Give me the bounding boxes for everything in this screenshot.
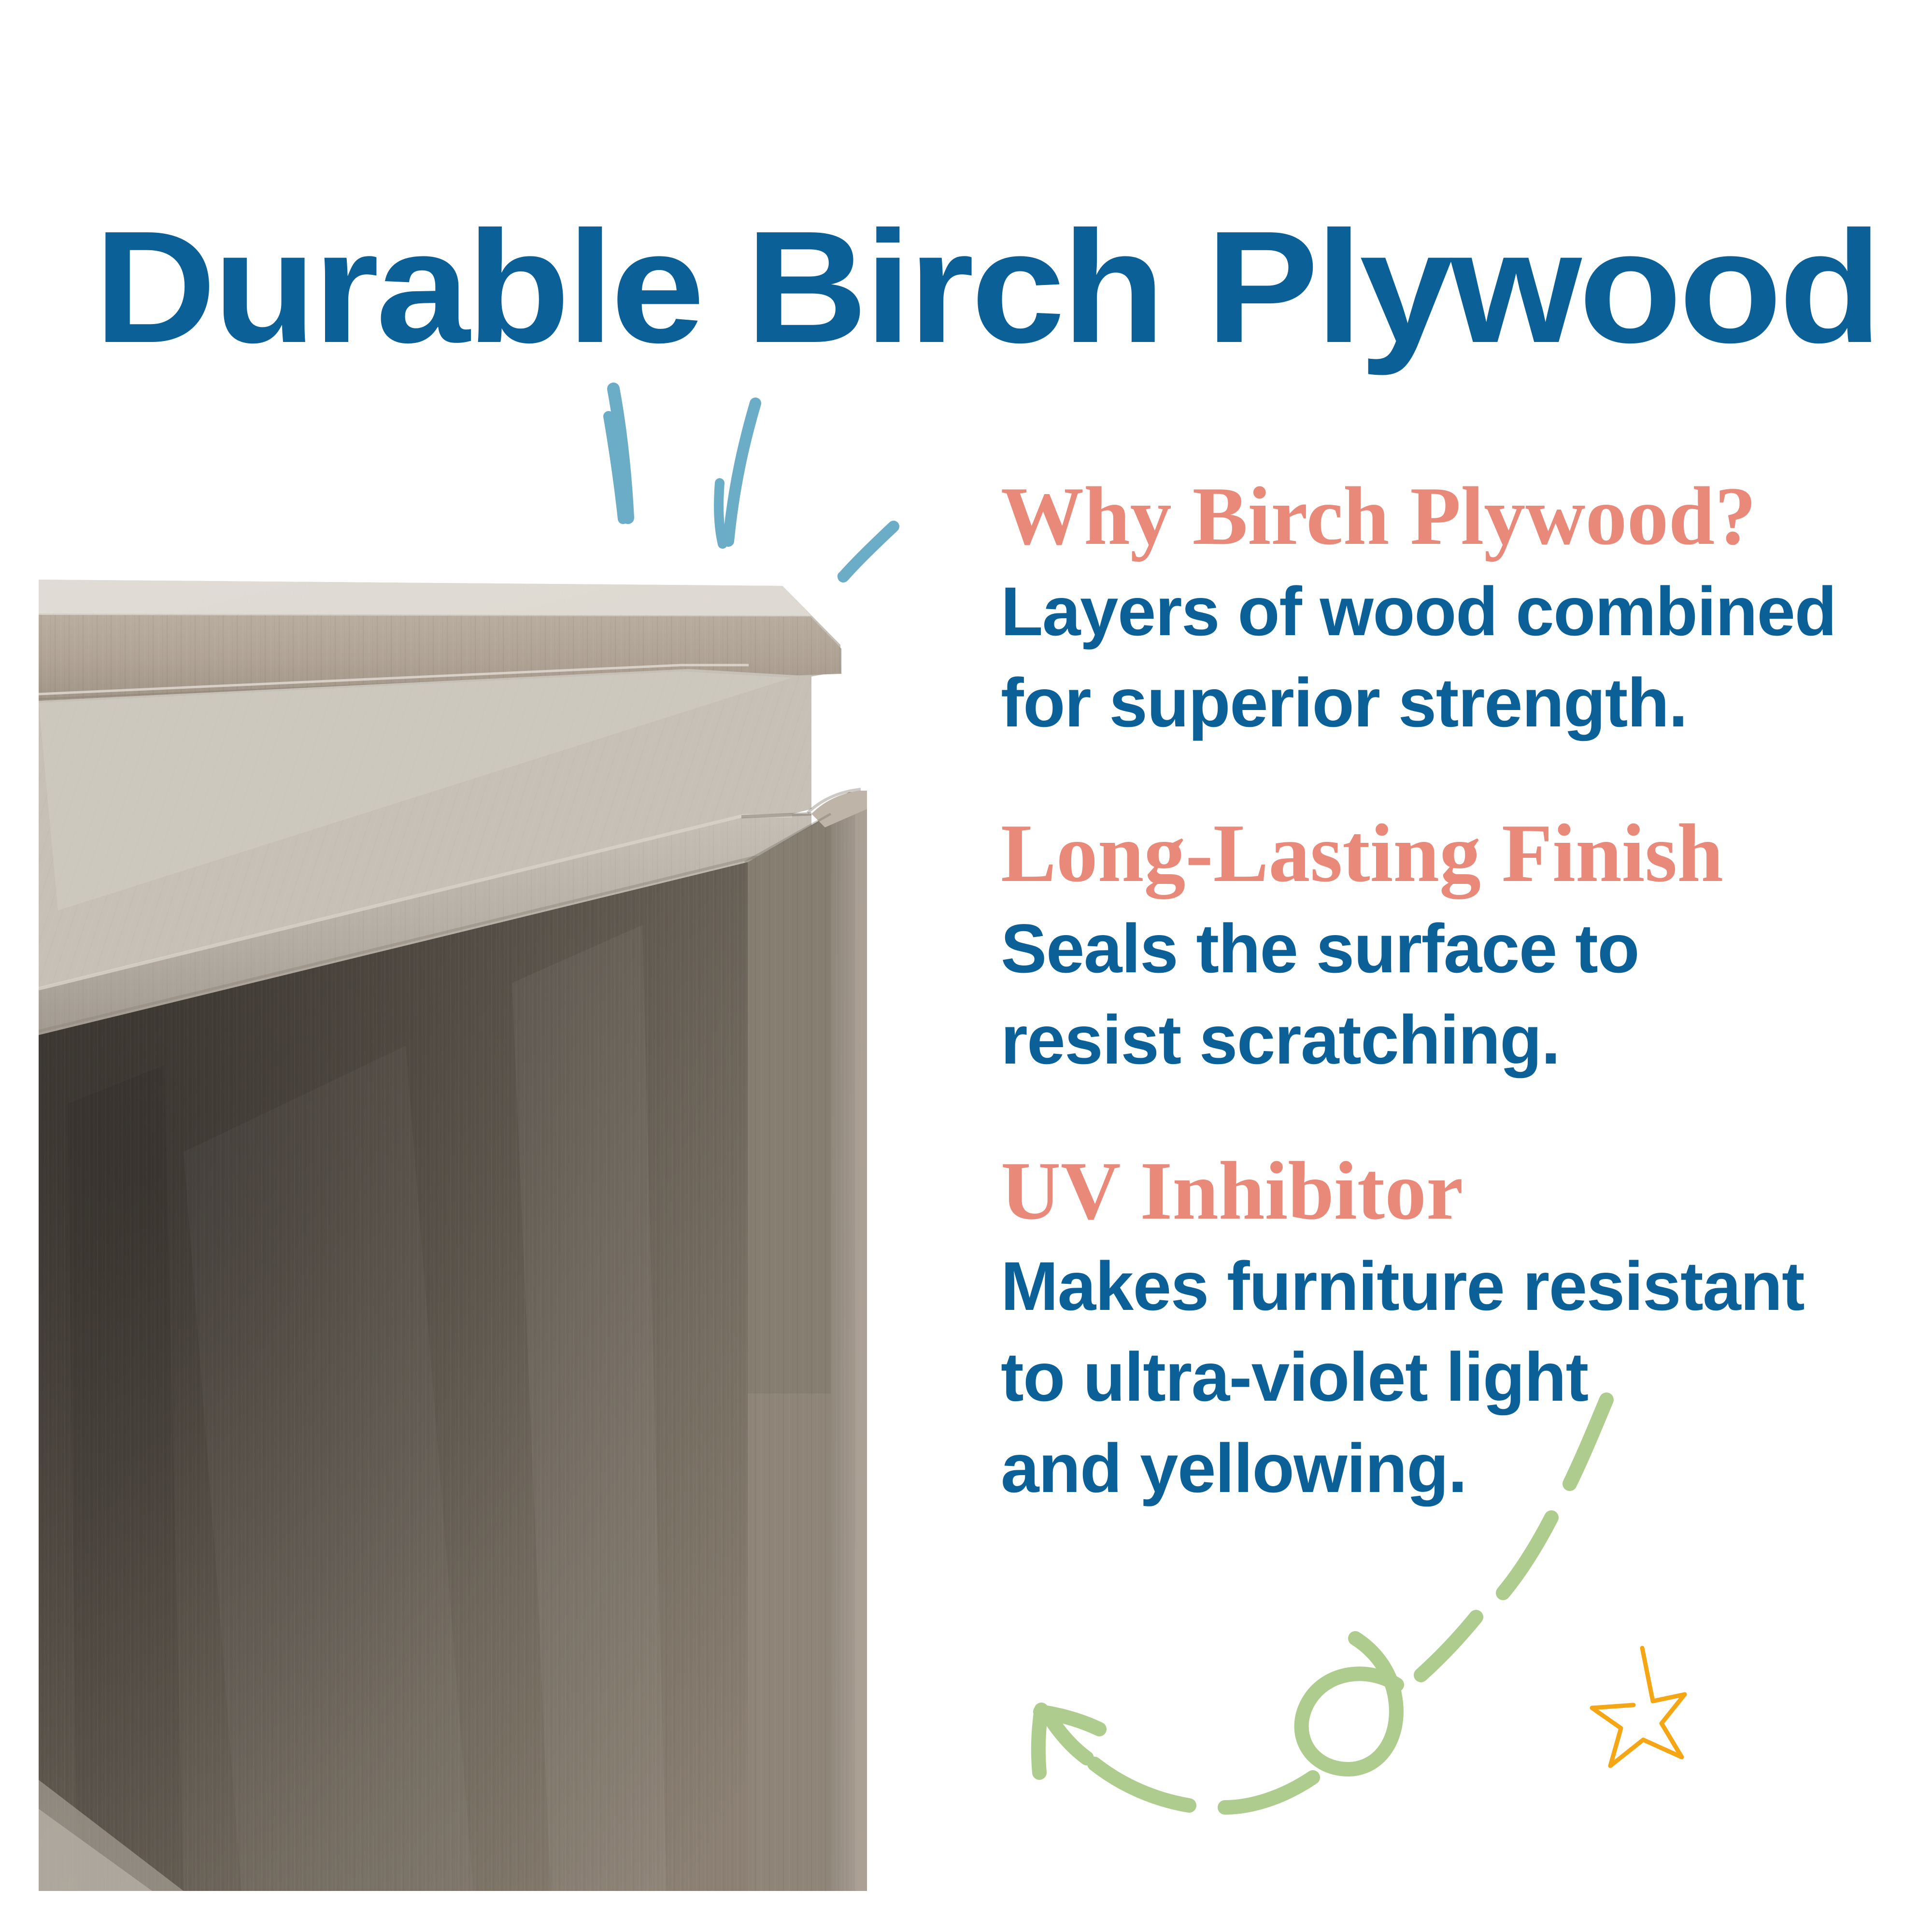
feature-heading: Long-Lasting Finish bbox=[1001, 810, 1870, 897]
feature-heading: Why Birch Plywood? bbox=[1001, 473, 1870, 560]
feature-block-why-birch-plywood: Why Birch Plywood? Layers of wood combin… bbox=[1001, 473, 1870, 749]
feature-body-line: to ultra-violet light bbox=[1001, 1332, 1870, 1423]
feature-body-line: and yellowing. bbox=[1001, 1423, 1870, 1515]
feature-list: Why Birch Plywood? Layers of wood combin… bbox=[1001, 473, 1870, 1515]
feature-body-line: resist scratching. bbox=[1001, 995, 1870, 1086]
product-photo bbox=[39, 476, 867, 1891]
page-title: Durable Birch Plywood bbox=[94, 203, 1932, 371]
feature-body: Makes furniture resistant to ultra-viole… bbox=[1001, 1241, 1870, 1515]
feature-body-line: Seals the surface to bbox=[1001, 904, 1870, 995]
feature-body-line: for superior strength. bbox=[1001, 658, 1870, 749]
feature-body: Layers of wood combined for superior str… bbox=[1001, 567, 1870, 749]
feature-body-line: Layers of wood combined bbox=[1001, 567, 1870, 658]
infographic-canvas: Durable Birch Plywood bbox=[0, 0, 1932, 1932]
feature-block-long-lasting-finish: Long-Lasting Finish Seals the surface to… bbox=[1001, 810, 1870, 1086]
feature-body: Seals the surface to resist scratching. bbox=[1001, 904, 1870, 1086]
feature-block-uv-inhibitor: UV Inhibitor Makes furniture resistant t… bbox=[1001, 1148, 1870, 1515]
feature-heading: UV Inhibitor bbox=[1001, 1148, 1870, 1235]
feature-body-line: Makes furniture resistant bbox=[1001, 1241, 1870, 1333]
star-outline-icon bbox=[1579, 1628, 1719, 1768]
